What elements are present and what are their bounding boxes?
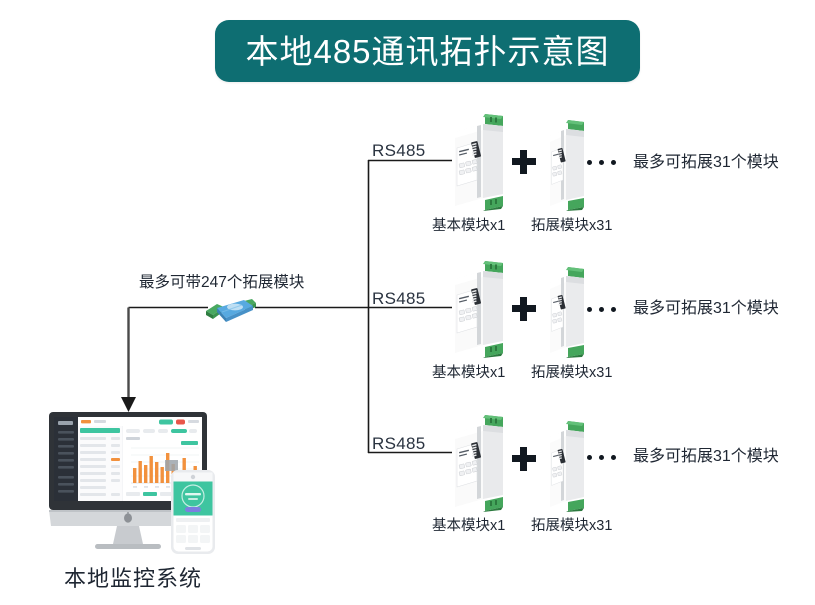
- expansion-module-3: [544, 419, 588, 518]
- expansion-note-2: 最多可拓展31个模块: [633, 301, 779, 317]
- ellipsis-dots-2: [587, 307, 616, 312]
- dot: [611, 160, 616, 165]
- base-module-caption-2: 基本模块x1: [432, 366, 505, 381]
- plus-icon-1: [512, 150, 536, 174]
- dot: [599, 307, 604, 312]
- dot: [587, 307, 592, 312]
- ellipsis-dots-3: [587, 455, 616, 460]
- expansion-module-caption-2: 拓展模块x31: [531, 366, 612, 381]
- rs485-label-1: RS485: [372, 142, 425, 159]
- base-module-1: [447, 112, 509, 217]
- dot: [599, 455, 604, 460]
- rs485-label-2: RS485: [372, 290, 425, 307]
- base-module-3: [447, 413, 509, 518]
- dot: [587, 455, 592, 460]
- expansion-note-3: 最多可拓展31个模块: [633, 449, 779, 465]
- expansion-module-caption-3: 拓展模块x31: [531, 519, 612, 534]
- dot: [587, 160, 592, 165]
- workstation-caption: 本地监控系统: [64, 561, 202, 593]
- plus-icon-2: [512, 297, 536, 321]
- base-module-2: [447, 259, 509, 364]
- local-monitoring-workstation: [45, 408, 235, 556]
- base-module-caption-3: 基本模块x1: [432, 519, 505, 534]
- plus-icon-3: [512, 447, 536, 471]
- title-banner: 本地485通讯拓扑示意图: [215, 20, 640, 82]
- dot: [599, 160, 604, 165]
- carry-capacity-note: 最多可带247个拓展模块: [139, 270, 304, 292]
- rs485-converter-icon: [204, 298, 258, 326]
- expansion-module-1: [544, 118, 588, 217]
- base-module-caption-1: 基本模块x1: [432, 219, 505, 234]
- expansion-module-2: [544, 265, 588, 364]
- rs485-label-3: RS485: [372, 435, 425, 452]
- expansion-note-1: 最多可拓展31个模块: [633, 155, 779, 171]
- page-title: 本地485通讯拓扑示意图: [245, 35, 609, 68]
- dot: [611, 307, 616, 312]
- ellipsis-dots-1: [587, 160, 616, 165]
- expansion-module-caption-1: 拓展模块x31: [531, 219, 612, 234]
- diagram-canvas: 本地485通讯拓扑示意图 最多可带247个拓展模块: [0, 0, 815, 605]
- dot: [611, 455, 616, 460]
